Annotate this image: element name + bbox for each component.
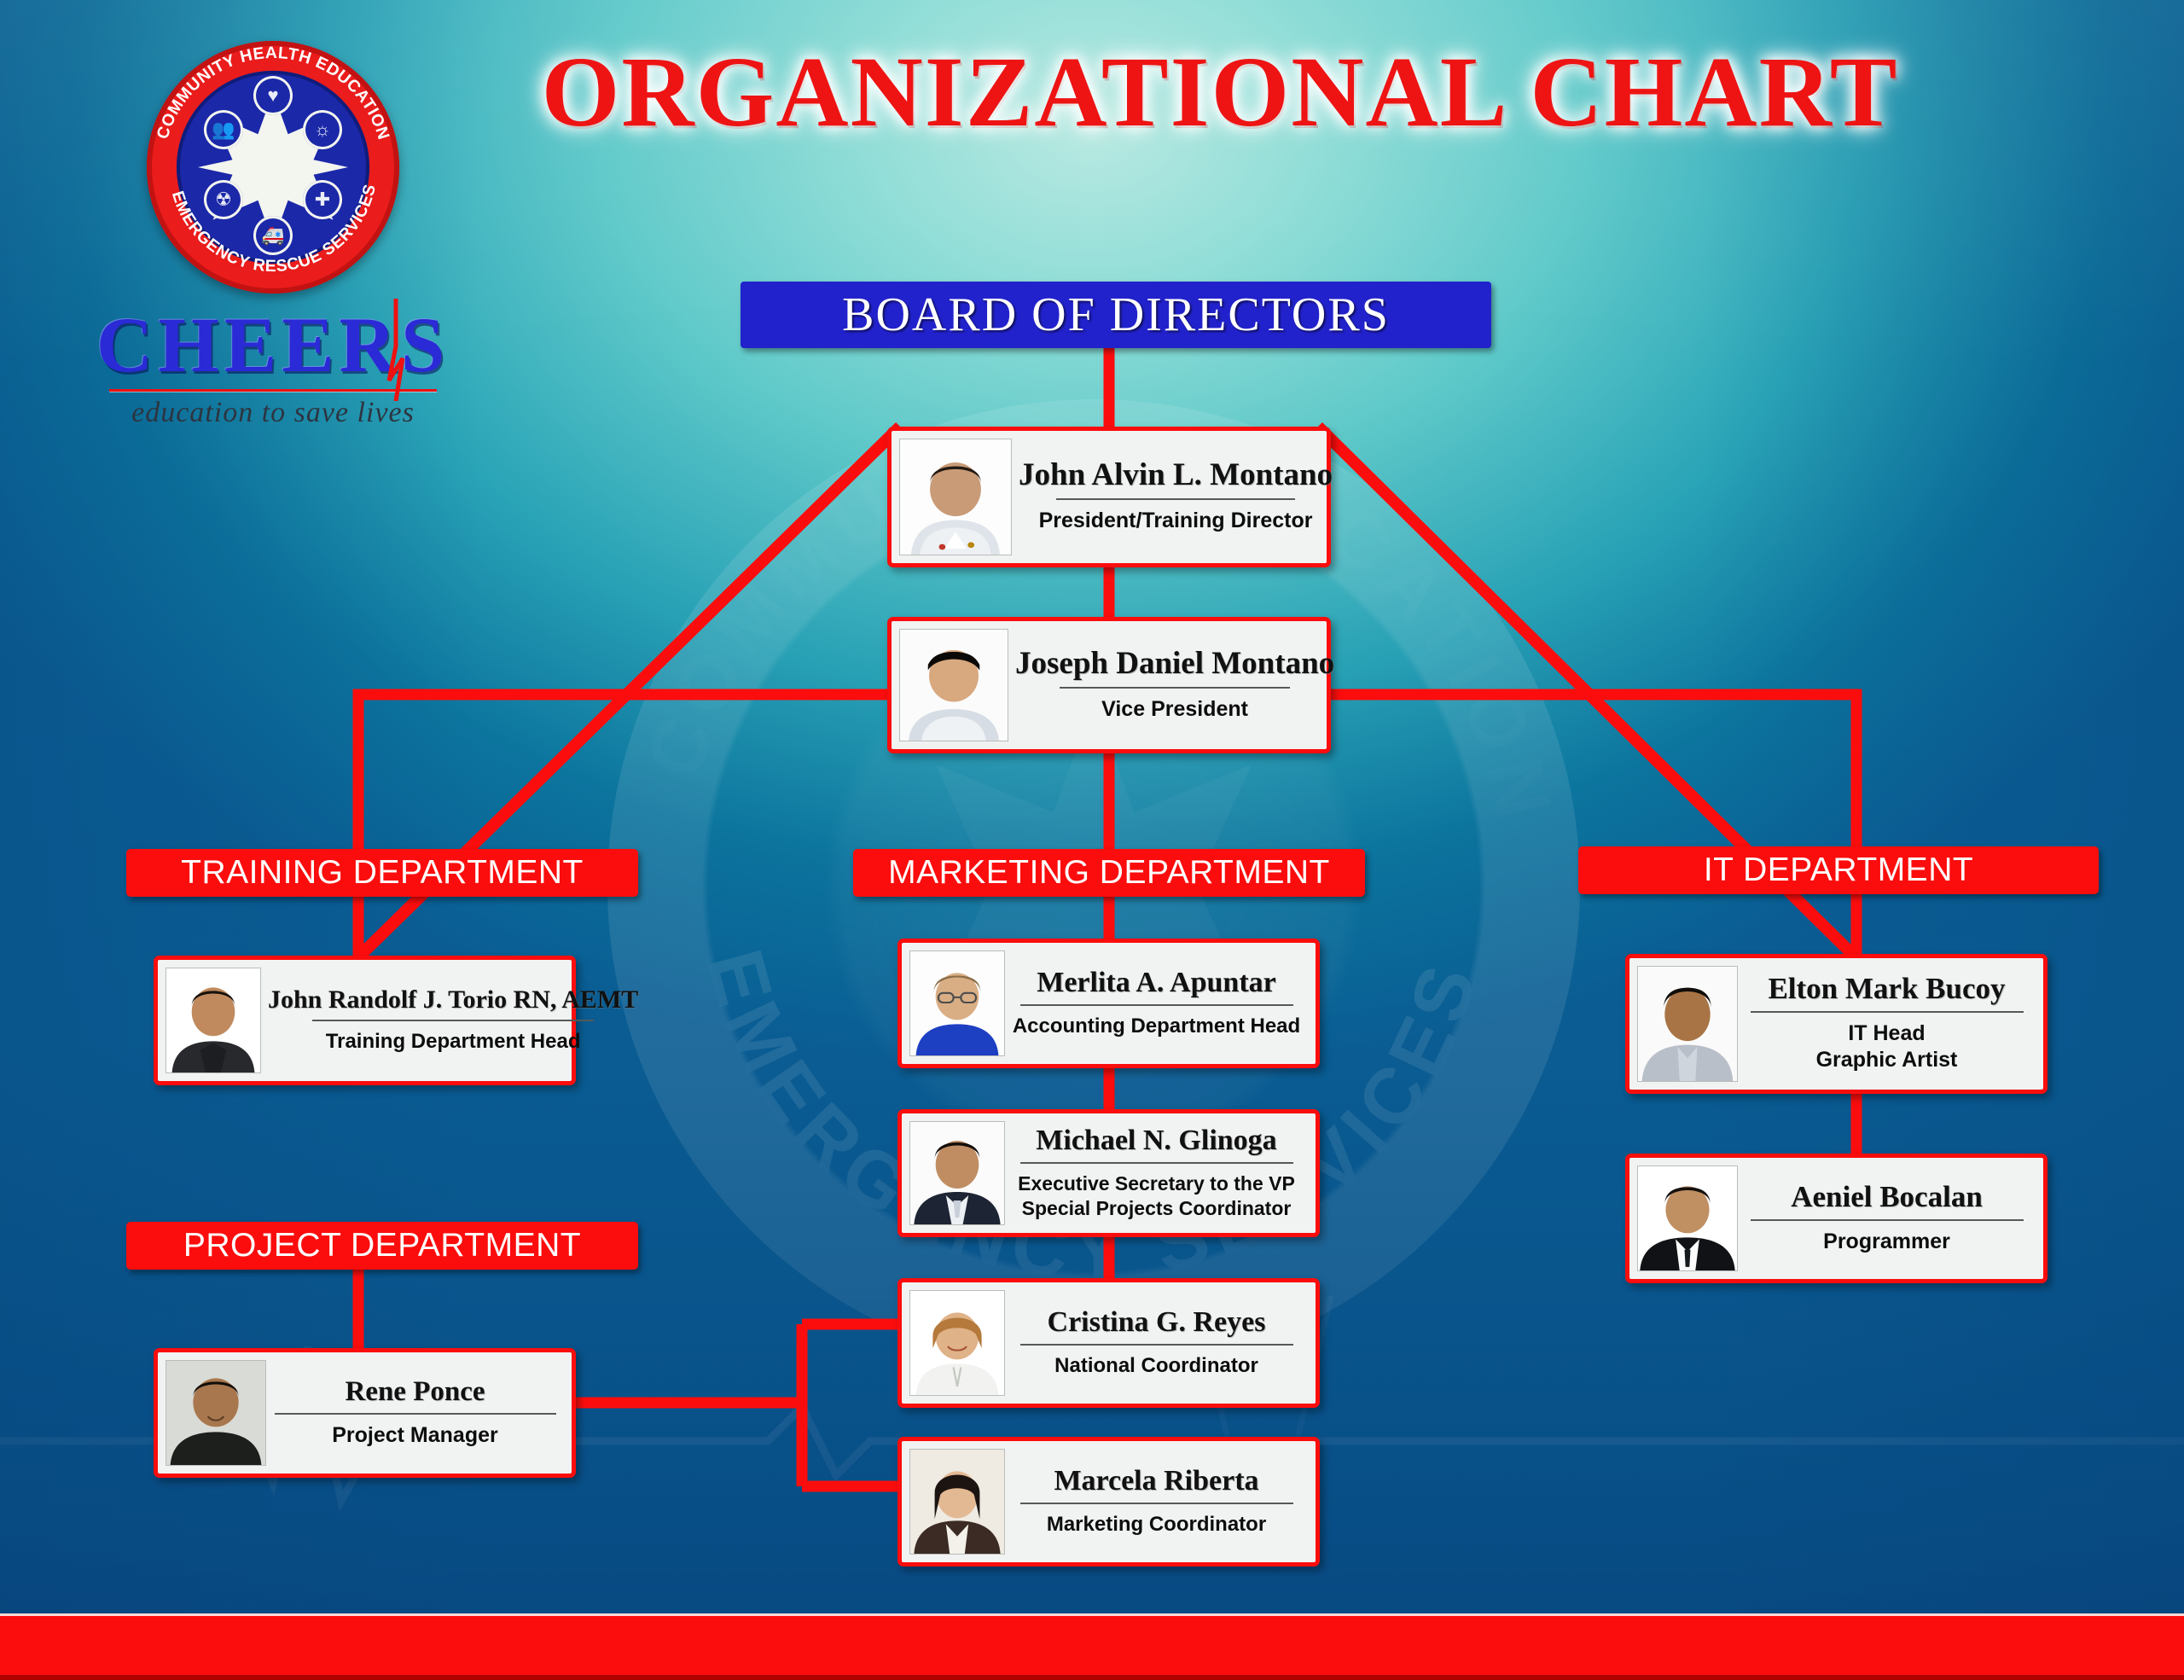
avatar-programmer	[1637, 1166, 1738, 1271]
person-name: John Alvin L. Montano	[1019, 459, 1333, 492]
person-info-exec-secretary: Michael N. Glinoga Executive Secretary t…	[1005, 1121, 1308, 1225]
portrait-graphic	[900, 439, 1011, 555]
person-info-training-head: John Randolf J. Torio RN, AEMT Training …	[261, 968, 645, 1073]
person-info-accounting-head: Merlita A. Apuntar Accounting Department…	[1005, 950, 1308, 1056]
person-name: Marcela Riberta	[1054, 1466, 1258, 1497]
person-name: Aeniel Bocalan	[1791, 1182, 1983, 1213]
person-info-national-coordinator: Cristina G. Reyes National Coordinator	[1005, 1290, 1308, 1396]
name-rule	[1020, 1162, 1293, 1164]
portrait-graphic	[900, 630, 1008, 741]
person-card-accounting-head[interactable]: Merlita A. Apuntar Accounting Department…	[897, 939, 1320, 1068]
portrait-graphic	[166, 968, 260, 1073]
name-rule	[1056, 498, 1295, 500]
department-label: TRAINING DEPARTMENT	[181, 854, 584, 892]
person-name: Michael N. Glinoga	[1036, 1125, 1276, 1156]
person-title: Accounting Department Head	[1013, 1014, 1300, 1039]
person-card-marketing-coordinator[interactable]: Marcela Riberta Marketing Coordinator	[897, 1437, 1320, 1567]
seal-ring-text: COMMUNITY HEALTH EDUCATION EMERGENCY RES…	[147, 41, 399, 294]
avatar-exec-secretary	[909, 1121, 1005, 1225]
department-label: IT DEPARTMENT	[1704, 852, 1973, 889]
seal-bottom-text: EMERGENCY RESCUE SERVICES	[168, 183, 380, 276]
avatar-it-head	[1637, 966, 1738, 1082]
person-card-vice-president[interactable]: Joseph Daniel Montano Vice President	[887, 617, 1331, 753]
person-name: Cristina G. Reyes	[1048, 1307, 1266, 1338]
person-title-line2: Special Projects Coordinator	[1022, 1196, 1292, 1221]
person-title-line2: Graphic Artist	[1816, 1047, 1958, 1073]
cheers-tagline: education to save lives	[94, 397, 452, 429]
svg-text:COMMUNITY HEALTH EDUCATION: COMMUNITY HEALTH EDUCATION	[154, 44, 393, 142]
avatar-accounting-head	[909, 950, 1005, 1056]
person-info-vice-president: Joseph Daniel Montano Vice President	[1008, 629, 1341, 741]
svg-text:EMERGENCY RESCUE SERVICES: EMERGENCY RESCUE SERVICES	[168, 183, 380, 276]
name-rule	[275, 1413, 556, 1415]
person-card-programmer[interactable]: Aeniel Bocalan Programmer	[1625, 1154, 2047, 1283]
person-title: Training Department Head	[326, 1029, 581, 1055]
person-name: Elton Mark Bucoy	[1768, 974, 2005, 1005]
avatar-vice-president	[899, 629, 1008, 741]
cheers-wordmark: CHEERS education to save lives	[94, 305, 452, 429]
portrait-graphic	[910, 951, 1004, 1055]
page-title: ORGANIZATIONAL CHART	[478, 38, 1962, 146]
name-rule	[1060, 687, 1290, 689]
portrait-graphic	[166, 1361, 265, 1465]
person-title: Programmer	[1823, 1229, 1950, 1255]
cheers-seal-icon: ♥ ☼ ✚ 🚑 ☢ 👥 COMMUNITY HEALTH EDUCATION E…	[147, 41, 399, 294]
name-rule	[1020, 1503, 1293, 1504]
portrait-graphic	[1638, 967, 1737, 1081]
department-header-it[interactable]: IT DEPARTMENT	[1578, 846, 2099, 894]
person-title: President/Training Director	[1039, 508, 1313, 534]
person-info-president: John Alvin L. Montano President/Training…	[1012, 439, 1339, 555]
portrait-graphic	[910, 1122, 1004, 1224]
department-label: MARKETING DEPARTMENT	[888, 854, 1330, 892]
person-title: National Coordinator	[1054, 1353, 1258, 1379]
avatar-training-head	[166, 968, 261, 1073]
seal-top-text: COMMUNITY HEALTH EDUCATION	[154, 44, 393, 142]
person-name: John Randolf J. Torio RN, AEMT	[268, 986, 638, 1014]
organization-logo: ♥ ☼ ✚ 🚑 ☢ 👥 COMMUNITY HEALTH EDUCATION E…	[94, 41, 452, 429]
name-rule	[1020, 1344, 1293, 1346]
person-title: Marketing Coordinator	[1047, 1512, 1266, 1538]
person-card-project-manager[interactable]: Rene Ponce Project Manager	[154, 1348, 576, 1478]
avatar-national-coordinator	[909, 1290, 1005, 1396]
avatar-president	[899, 439, 1012, 555]
portrait-graphic	[910, 1291, 1004, 1395]
board-of-directors-label: BOARD OF DIRECTORS	[842, 288, 1390, 342]
person-name: Merlita A. Apuntar	[1037, 968, 1275, 998]
board-of-directors-box[interactable]: BOARD OF DIRECTORS	[741, 282, 1491, 348]
person-info-it-head: Elton Mark Bucoy IT Head Graphic Artist	[1738, 966, 2036, 1082]
person-info-marketing-coordinator: Marcela Riberta Marketing Coordinator	[1005, 1449, 1308, 1555]
department-header-training[interactable]: TRAINING DEPARTMENT	[126, 849, 638, 897]
person-name: Joseph Daniel Montano	[1015, 648, 1334, 681]
person-card-national-coordinator[interactable]: Cristina G. Reyes National Coordinator	[897, 1278, 1320, 1408]
name-rule	[1020, 1004, 1293, 1006]
name-rule	[312, 1020, 594, 1021]
person-title-line1: Executive Secretary to the VP	[1018, 1171, 1295, 1196]
department-label: PROJECT DEPARTMENT	[183, 1227, 581, 1264]
portrait-graphic	[1638, 1166, 1737, 1270]
person-title: Project Manager	[332, 1422, 498, 1449]
avatar-marketing-coordinator	[909, 1449, 1005, 1555]
person-card-president[interactable]: John Alvin L. Montano President/Training…	[887, 427, 1331, 567]
department-header-project[interactable]: PROJECT DEPARTMENT	[126, 1222, 638, 1270]
name-rule	[1751, 1011, 2024, 1013]
person-info-programmer: Aeniel Bocalan Programmer	[1738, 1166, 2036, 1271]
name-rule	[1751, 1219, 2024, 1221]
person-card-training-head[interactable]: John Randolf J. Torio RN, AEMT Training …	[154, 956, 576, 1085]
person-card-exec-secretary[interactable]: Michael N. Glinoga Executive Secretary t…	[897, 1109, 1320, 1237]
portrait-graphic	[910, 1450, 1004, 1554]
chart-canvas: COMMUNITY EDUCATION EMERGENCY SERVICES ♥…	[0, 0, 2184, 1680]
person-card-it-head[interactable]: Elton Mark Bucoy IT Head Graphic Artist	[1625, 954, 2047, 1094]
footer-bar	[0, 1613, 2184, 1680]
person-title: Vice President	[1101, 696, 1248, 723]
person-info-project-manager: Rene Ponce Project Manager	[266, 1360, 564, 1466]
avatar-project-manager	[166, 1360, 266, 1466]
person-name: Rene Ponce	[345, 1377, 485, 1407]
person-title-line1: IT Head	[1848, 1020, 1925, 1047]
heartbeat-spike-icon	[370, 299, 421, 401]
department-header-marketing[interactable]: MARKETING DEPARTMENT	[853, 849, 1365, 897]
